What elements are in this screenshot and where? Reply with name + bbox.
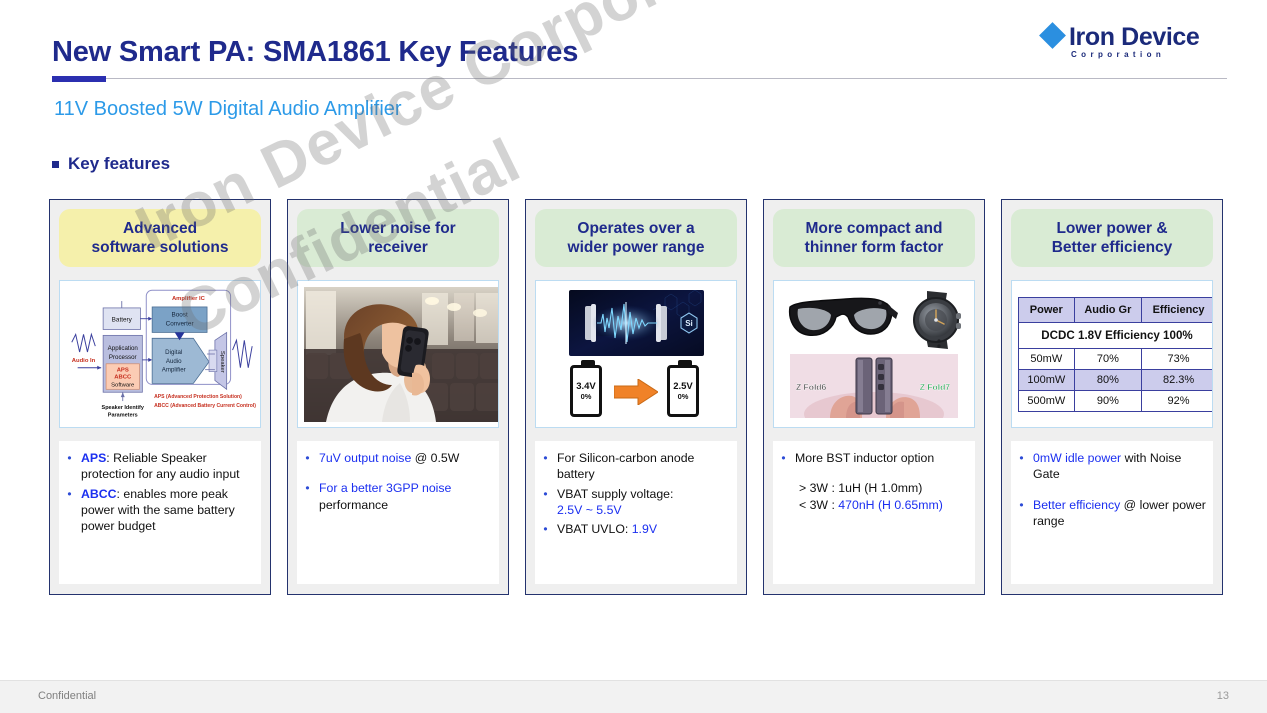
iron-device-logo: Iron Device Corporation [1029,22,1229,68]
bullet-dot-icon: • [303,450,312,466]
page-subtitle: 11V Boosted 5W Digital Audio Amplifier [54,98,402,121]
si-label: Si [685,319,693,328]
battery-before: 3.4V 0% [570,365,602,417]
diagram-note-abcc: ABCC (Advanced Battery Current Control) [154,403,256,409]
svg-text:Amplifier: Amplifier [162,367,186,374]
card-header-line2: thinner form factor [805,239,944,256]
efficiency-table: DCDC 1.8V Efficiency 100% Power Audio Gr… [1018,297,1213,412]
card-visual-wearables: Z Fold6 Z Fold7 [773,280,975,428]
cell-audio-gr: 90% [1074,391,1141,412]
card-visual-efficiency-table: DCDC 1.8V Efficiency 100% Power Audio Gr… [1011,280,1213,428]
table-row: 100mW 80% 82.3% [1019,370,1214,391]
list-item: • More BST inductor option [779,450,969,466]
card-body-lower-noise: • 7uV output noise @ 0.5W • For a better… [297,441,499,584]
bullet-lead: APS [81,451,106,465]
arrow-right-icon [614,379,658,405]
efficiency-table-wrap: DCDC 1.8V Efficiency 100% Power Audio Gr… [1018,297,1213,412]
list-item: • VBAT supply voltage: 2.5V ~ 5.5V [541,486,731,519]
cell-audio-gr: 80% [1074,370,1141,391]
battery-after-voltage: 2.5V [673,381,693,392]
si-battery-svg: Si [569,290,704,356]
title-divider-accent [52,76,106,82]
list-item: • ABCC: enables more peak power with the… [65,486,255,535]
feature-card-compact-form-factor[interactable]: More compact and thinner form factor [763,199,985,595]
list-item: • APS: Reliable Speaker protection for a… [65,450,255,483]
bullet-dot-icon: • [541,450,550,483]
page-title: New Smart PA: SMA1861 Key Features [52,36,578,69]
svg-text:Application: Application [108,345,139,352]
inductor-line-2-prefix: < 3W : [799,498,838,512]
svg-text:Processor: Processor [109,354,137,361]
cell-efficiency: 92% [1142,391,1213,412]
card-header-line2: Better efficiency [1052,239,1173,256]
svg-text:Boost: Boost [171,312,187,319]
inductor-line-2: < 3W : 470nH (H 0.65mm) [799,497,969,513]
svg-text:Digital: Digital [165,349,182,356]
column-header-audio-gr: Audio Gr [1074,298,1141,323]
svg-text:Software: Software [111,382,134,388]
card-visual-photo-woman-on-phone [297,280,499,428]
bullet-dot-icon: • [779,450,788,466]
list-item: • For Silicon-carbon anode battery [541,450,731,483]
list-item: • For a better 3GPP noise performance [303,480,493,513]
column-header-efficiency: Efficiency [1142,298,1213,323]
bullet-rest: More BST inductor option [795,450,969,466]
cell-power: 50mW [1019,349,1075,370]
diagram-note-aps: APS (Advanced Protection Solution) [154,394,242,400]
svg-text:Parameters: Parameters [108,413,138,419]
title-divider [52,78,1227,79]
card-header-lower-noise: Lower noise for receiver [297,209,499,267]
card-body-advanced-software: • APS: Reliable Speaker protection for a… [59,441,261,584]
bullet-dot-icon: • [65,486,74,535]
card-header-line1: More compact and [806,220,943,237]
diamond-icon [1039,22,1066,49]
bullet-lead: ABCC [81,487,117,501]
svg-text:Speaker Identify: Speaker Identify [102,405,145,411]
feature-card-lower-power-efficiency[interactable]: Lower power & Better efficiency DCDC 1.8… [1001,199,1223,595]
feature-card-row: Advanced software solutions Amplifier IC… [49,199,1223,595]
foldable-tag-right: Z Fold7 [920,382,950,392]
card-header-line1: Lower noise for [340,220,455,237]
diagram-battery-label: Battery [112,317,133,324]
card-body-lower-power-efficiency: • 0mW idle power with Noise Gate • Bette… [1011,441,1213,584]
bullet-dot-icon: • [65,450,74,483]
card-header-line1: Advanced [123,220,197,237]
bullet-lead: 7uV output noise [319,451,411,465]
block-diagram-svg: Amplifier IC Battery Boost Converter App… [60,281,260,427]
card-header-line2: wider power range [568,239,705,256]
smart-watch-icon [907,289,965,351]
si-battery-graphic: Si [569,290,704,356]
battery-after-percent: 0% [678,392,689,401]
square-bullet-icon [52,161,59,168]
feature-card-advanced-software[interactable]: Advanced software solutions Amplifier IC… [49,199,271,595]
bullet-dot-icon: • [1017,497,1026,530]
bullet-rest: For Silicon-carbon anode battery [557,450,731,483]
card-body-wider-power-range: • For Silicon-carbon anode battery • VBA… [535,441,737,584]
slide-footer: Confidential 13 [0,680,1267,713]
card-header-compact-form-factor: More compact and thinner form factor [773,209,975,267]
logo-tagline: Corporation [1071,50,1165,59]
photo-woman-on-phone [304,287,499,422]
diagram-audio-in-label: Audio In [72,358,96,364]
section-heading-label: Key features [68,154,170,174]
diagram-amplifier-ic-label: Amplifier IC [172,296,206,302]
feature-card-wider-power-range[interactable]: Operates over a wider power range [525,199,747,595]
inductor-line-2-value: 470nH (H 0.65mm) [838,498,943,512]
battery-before-percent: 0% [581,392,592,401]
card-body-compact-form-factor: • More BST inductor option > 3W : 1uH (H… [773,441,975,584]
svg-text:APS: APS [117,368,129,374]
svg-text:Speaker: Speaker [219,351,225,373]
section-heading: Key features [52,154,170,174]
logo-wordmark: Iron Device [1069,23,1199,52]
bullet-tail: 2.5V ~ 5.5V [557,503,622,517]
bullet-rest: VBAT supply voltage: [557,487,673,501]
bullet-rest: VBAT UVLO: [557,522,632,536]
bullet-dot-icon: • [303,480,312,513]
bullet-lead: For a better 3GPP noise [319,481,451,495]
table-row: 50mW 70% 73% [1019,349,1214,370]
card-header-line2: receiver [368,239,427,256]
slide-header: New Smart PA: SMA1861 Key Features 11V B… [0,0,1267,140]
column-header-power: Power [1019,298,1075,323]
svg-text:Converter: Converter [166,321,195,328]
bullet-dot-icon: • [1017,450,1026,483]
cell-efficiency: 73% [1142,349,1213,370]
bullet-lead: Better efficiency [1033,498,1120,512]
bullet-rest: performance [319,498,388,512]
efficiency-table-title: DCDC 1.8V Efficiency 100% [1019,323,1214,349]
footer-page-number: 13 [1217,690,1229,702]
bullet-dot-icon: • [541,486,550,519]
bullet-tail: 1.9V [632,522,657,536]
cell-audio-gr: 70% [1074,349,1141,370]
svg-text:Audio: Audio [166,358,182,365]
battery-after: 2.5V 0% [667,365,699,417]
card-visual-battery-si: Si 3.4V 0% 2.5V 0% [535,280,737,428]
bullet-rest: @ 0.5W [411,451,459,465]
svg-text:ABCC: ABCC [114,375,132,381]
cell-efficiency: 82.3% [1142,370,1213,391]
footer-confidential-label: Confidential [38,690,96,702]
feature-card-lower-noise[interactable]: Lower noise for receiver [287,199,509,595]
table-row: 500mW 90% 92% [1019,391,1214,412]
card-header-line1: Lower power & [1056,220,1167,237]
card-header-advanced-software: Advanced software solutions [59,209,261,267]
battery-before-voltage: 3.4V [576,381,596,392]
card-visual-block-diagram: Amplifier IC Battery Boost Converter App… [59,280,261,428]
foldable-tag-left: Z Fold6 [796,382,826,392]
bullet-lead: 0mW idle power [1033,451,1121,465]
list-item: • 7uV output noise @ 0.5W [303,450,493,466]
list-item: • 0mW idle power with Noise Gate [1017,450,1207,483]
foldable-comparison-photo: Z Fold6 Z Fold7 [790,354,958,418]
list-item: • Better efficiency @ lower power range [1017,497,1207,530]
inductor-line-1: > 3W : 1uH (H 1.0mm) [799,480,969,496]
cell-power: 100mW [1019,370,1075,391]
cell-power: 500mW [1019,391,1075,412]
smart-glasses-icon [784,293,900,347]
bullet-dot-icon: • [541,521,550,537]
card-header-line1: Operates over a [577,220,694,237]
card-header-wider-power-range: Operates over a wider power range [535,209,737,267]
list-item: • VBAT UVLO: 1.9V [541,521,731,537]
card-header-lower-power-efficiency: Lower power & Better efficiency [1011,209,1213,267]
photo-illustration [304,287,499,422]
table-header-row: Power Audio Gr Efficiency [1019,298,1214,323]
card-header-line2: software solutions [92,239,229,256]
